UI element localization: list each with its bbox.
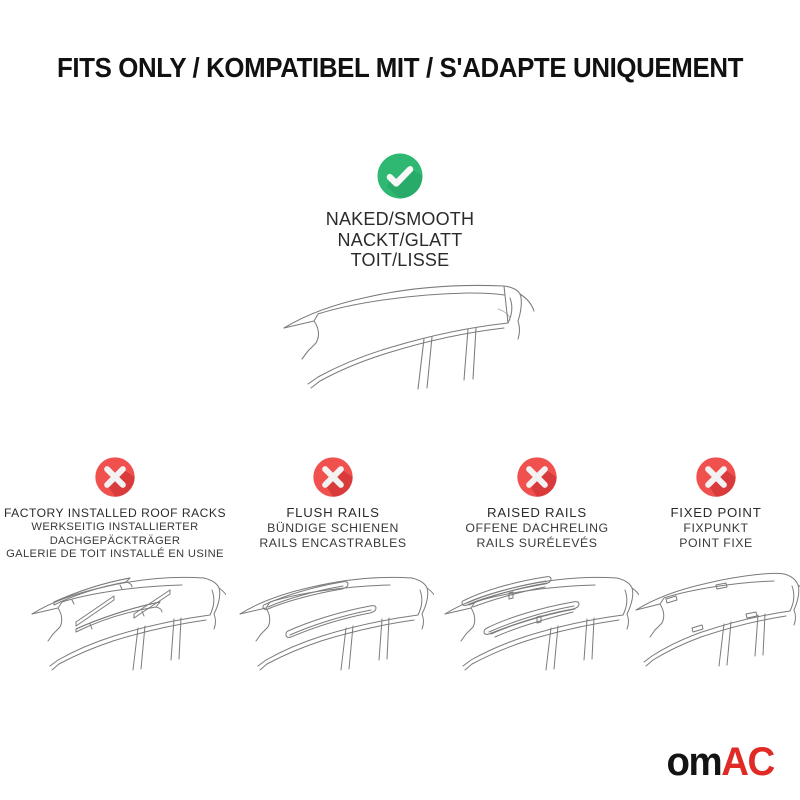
rejected-labels: RAISED RAILS OFFENE DACHRELING RAILS SUR… <box>437 505 637 550</box>
rejected-label-en: FACTORY INSTALLED ROOF RACKS <box>0 505 230 521</box>
x-circle-icon <box>94 456 136 498</box>
car-roof-raised-rails-illustration <box>427 552 639 692</box>
rejected-label-en: FLUSH RAILS <box>229 505 437 521</box>
rejected-roof-type-fixed-point: FIXED POINT FIXPUNKT POINT FIXE <box>632 456 800 550</box>
rejected-labels: FIXED POINT FIXPUNKT POINT FIXE <box>632 505 800 550</box>
car-roof-factory-installed-rack-illustration <box>14 552 226 692</box>
rejected-roof-type-factory-installed-roof-racks: FACTORY INSTALLED ROOF RACKS WERKSEITIG … <box>0 456 230 562</box>
rejected-label-en: FIXED POINT <box>632 505 800 521</box>
rejected-label-de: FIXPUNKT <box>632 521 800 536</box>
rejected-roof-type-raised-rails: RAISED RAILS OFFENE DACHRELING RAILS SUR… <box>437 456 637 550</box>
rejected-label-de: BÜNDIGE SCHIENEN <box>229 521 437 536</box>
x-circle-icon <box>516 456 558 498</box>
omac-logo: omAC <box>662 742 774 782</box>
approved-label-de: NACKT/GLATT <box>0 230 800 251</box>
approved-label-fr: TOIT/LISSE <box>0 250 800 271</box>
car-roof-flush-rails-illustration <box>222 552 434 692</box>
page-title: FITS ONLY / KOMPATIBEL MIT / S'ADAPTE UN… <box>24 52 776 84</box>
approved-roof-type-group: NAKED/SMOOTH NACKT/GLATT TOIT/LISSE <box>0 152 800 271</box>
omac-logo-ac: AC <box>721 740 774 784</box>
compatibility-diagram: FITS ONLY / KOMPATIBEL MIT / S'ADAPTE UN… <box>0 0 800 800</box>
rejected-label-de: OFFENE DACHRELING <box>437 521 637 536</box>
approved-labels: NAKED/SMOOTH NACKT/GLATT TOIT/LISSE <box>0 209 800 271</box>
x-circle-icon <box>312 456 354 498</box>
x-circle-icon <box>695 456 737 498</box>
approved-label-en: NAKED/SMOOTH <box>0 209 800 230</box>
rejected-label-de-1: WERKSEITIG INSTALLIERTER <box>0 521 230 535</box>
rejected-label-fr: RAILS ENCASTRABLES <box>229 536 437 551</box>
rejected-labels: FLUSH RAILS BÜNDIGE SCHIENEN RAILS ENCAS… <box>229 505 437 550</box>
rejected-label-en: RAISED RAILS <box>437 505 637 521</box>
car-roof-naked-smooth-illustration <box>272 281 562 406</box>
rejected-label-fr: RAILS SURÉLEVÉS <box>437 536 637 551</box>
rejected-roof-type-flush-rails: FLUSH RAILS BÜNDIGE SCHIENEN RAILS ENCAS… <box>229 456 437 550</box>
rejected-label-de-2: DACHGEPÄCKTRÄGER <box>0 535 230 549</box>
rejected-label-fr: POINT FIXE <box>632 536 800 551</box>
car-roof-fixed-point-illustration <box>624 552 800 692</box>
omac-logo-text: omAC <box>667 742 774 782</box>
check-circle-icon <box>376 152 424 200</box>
omac-logo-om: om <box>667 740 722 784</box>
